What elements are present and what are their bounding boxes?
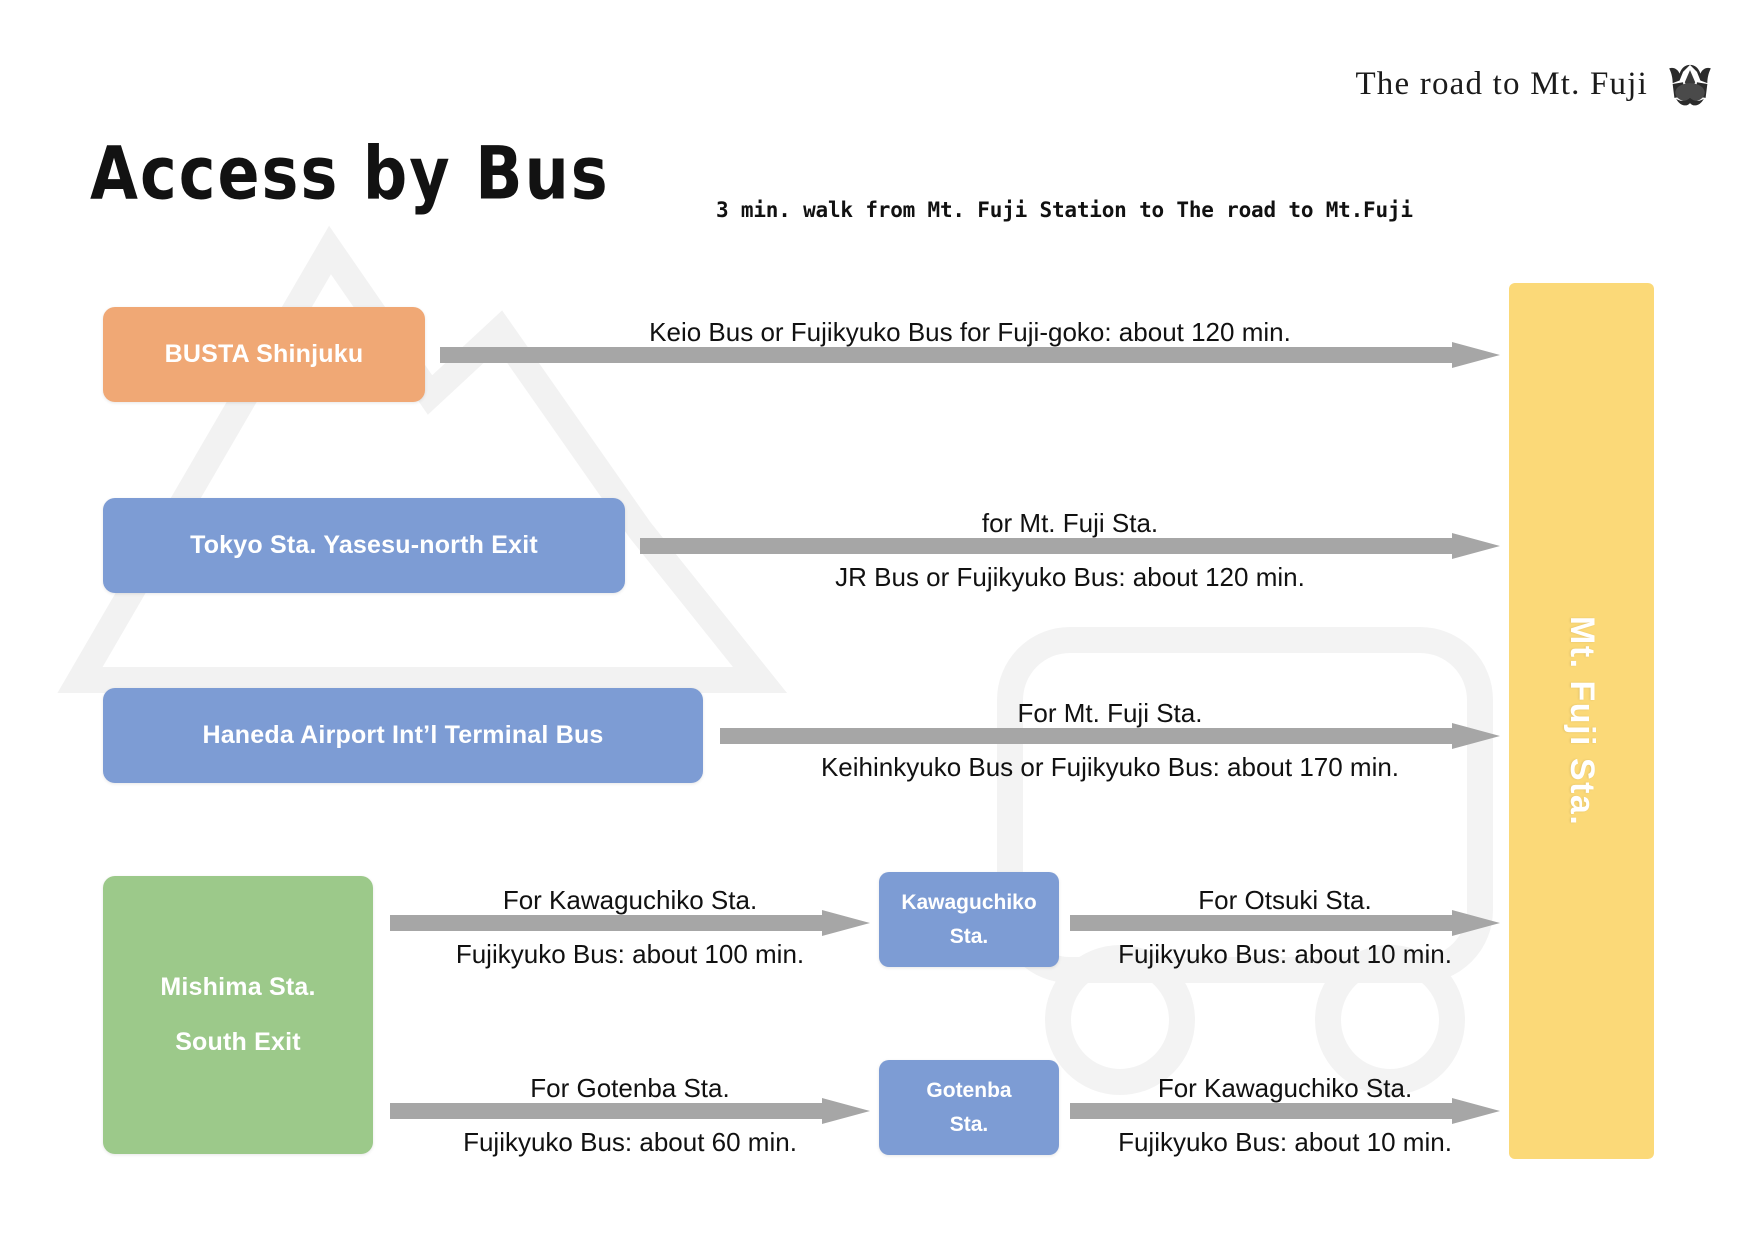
origin-tokyo-station[interactable]: Tokyo Sta. Yasesu-north Exit [103, 498, 625, 593]
route-label-tokyo-above: for Mt. Fuji Sta. [640, 508, 1500, 539]
interchange-gotenba-sta[interactable]: Gotenba Sta. [879, 1060, 1059, 1155]
route-label-mishima-gotenba-below: Fujikyuko Bus: about 60 min. [390, 1127, 870, 1158]
origin-label: Haneda Airport Int’l Terminal Bus [202, 721, 603, 750]
interchange-label-line2: Sta. [950, 925, 989, 949]
brand-logo: The road to Mt. Fuji [1355, 58, 1718, 110]
route-label-busta-above: Keio Bus or Fujikyuko Bus for Fuji-goko:… [440, 317, 1500, 348]
logo-text: The road to Mt. Fuji [1355, 66, 1648, 103]
origin-mishima-station[interactable]: Mishima Sta. South Exit [103, 876, 373, 1154]
route-label-mishima-kawaguchiko-above: For Kawaguchiko Sta. [390, 885, 870, 916]
interchange-label-line2: Sta. [950, 1113, 989, 1137]
samurai-helmet-icon [1662, 58, 1718, 110]
route-label-haneda-above: For Mt. Fuji Sta. [720, 698, 1500, 729]
route-label-mishima-kawaguchiko-below: Fujikyuko Bus: about 100 min. [390, 939, 870, 970]
origin-label: Tokyo Sta. Yasesu-north Exit [190, 531, 538, 560]
page-subtitle: 3 min. walk from Mt. Fuji Station to The… [716, 198, 1413, 222]
access-by-bus-diagram: The road to Mt. Fuji Access by Bus 3 min… [0, 0, 1754, 1239]
interchange-kawaguchiko-sta[interactable]: Kawaguchiko Sta. [879, 872, 1059, 967]
destination-mt-fuji-sta: Mt. Fuji Sta. [1509, 283, 1654, 1159]
route-label-tokyo-below: JR Bus or Fujikyuko Bus: about 120 min. [640, 562, 1500, 593]
route-label-kawaguchiko-fuji-above: For Otsuki Sta. [1070, 885, 1500, 916]
page-title: Access by Bus [90, 130, 610, 216]
route-label-gotenba-fuji-below: Fujikyuko Bus: about 10 min. [1070, 1127, 1500, 1158]
destination-label: Mt. Fuji Sta. [1562, 616, 1601, 826]
origin-haneda-airport[interactable]: Haneda Airport Int’l Terminal Bus [103, 688, 703, 783]
origin-busta-shinjuku[interactable]: BUSTA Shinjuku [103, 307, 425, 402]
origin-label-line2: South Exit [175, 1028, 301, 1057]
route-label-kawaguchiko-fuji-below: Fujikyuko Bus: about 10 min. [1070, 939, 1500, 970]
route-label-mishima-gotenba-above: For Gotenba Sta. [390, 1073, 870, 1104]
origin-label-line1: Mishima Sta. [160, 973, 315, 1002]
origin-label: BUSTA Shinjuku [165, 340, 364, 369]
interchange-label-line1: Kawaguchiko [901, 891, 1036, 915]
route-label-gotenba-fuji-above: For Kawaguchiko Sta. [1070, 1073, 1500, 1104]
interchange-label-line1: Gotenba [926, 1079, 1011, 1103]
route-label-haneda-below: Keihinkyuko Bus or Fujikyuko Bus: about … [720, 752, 1500, 783]
